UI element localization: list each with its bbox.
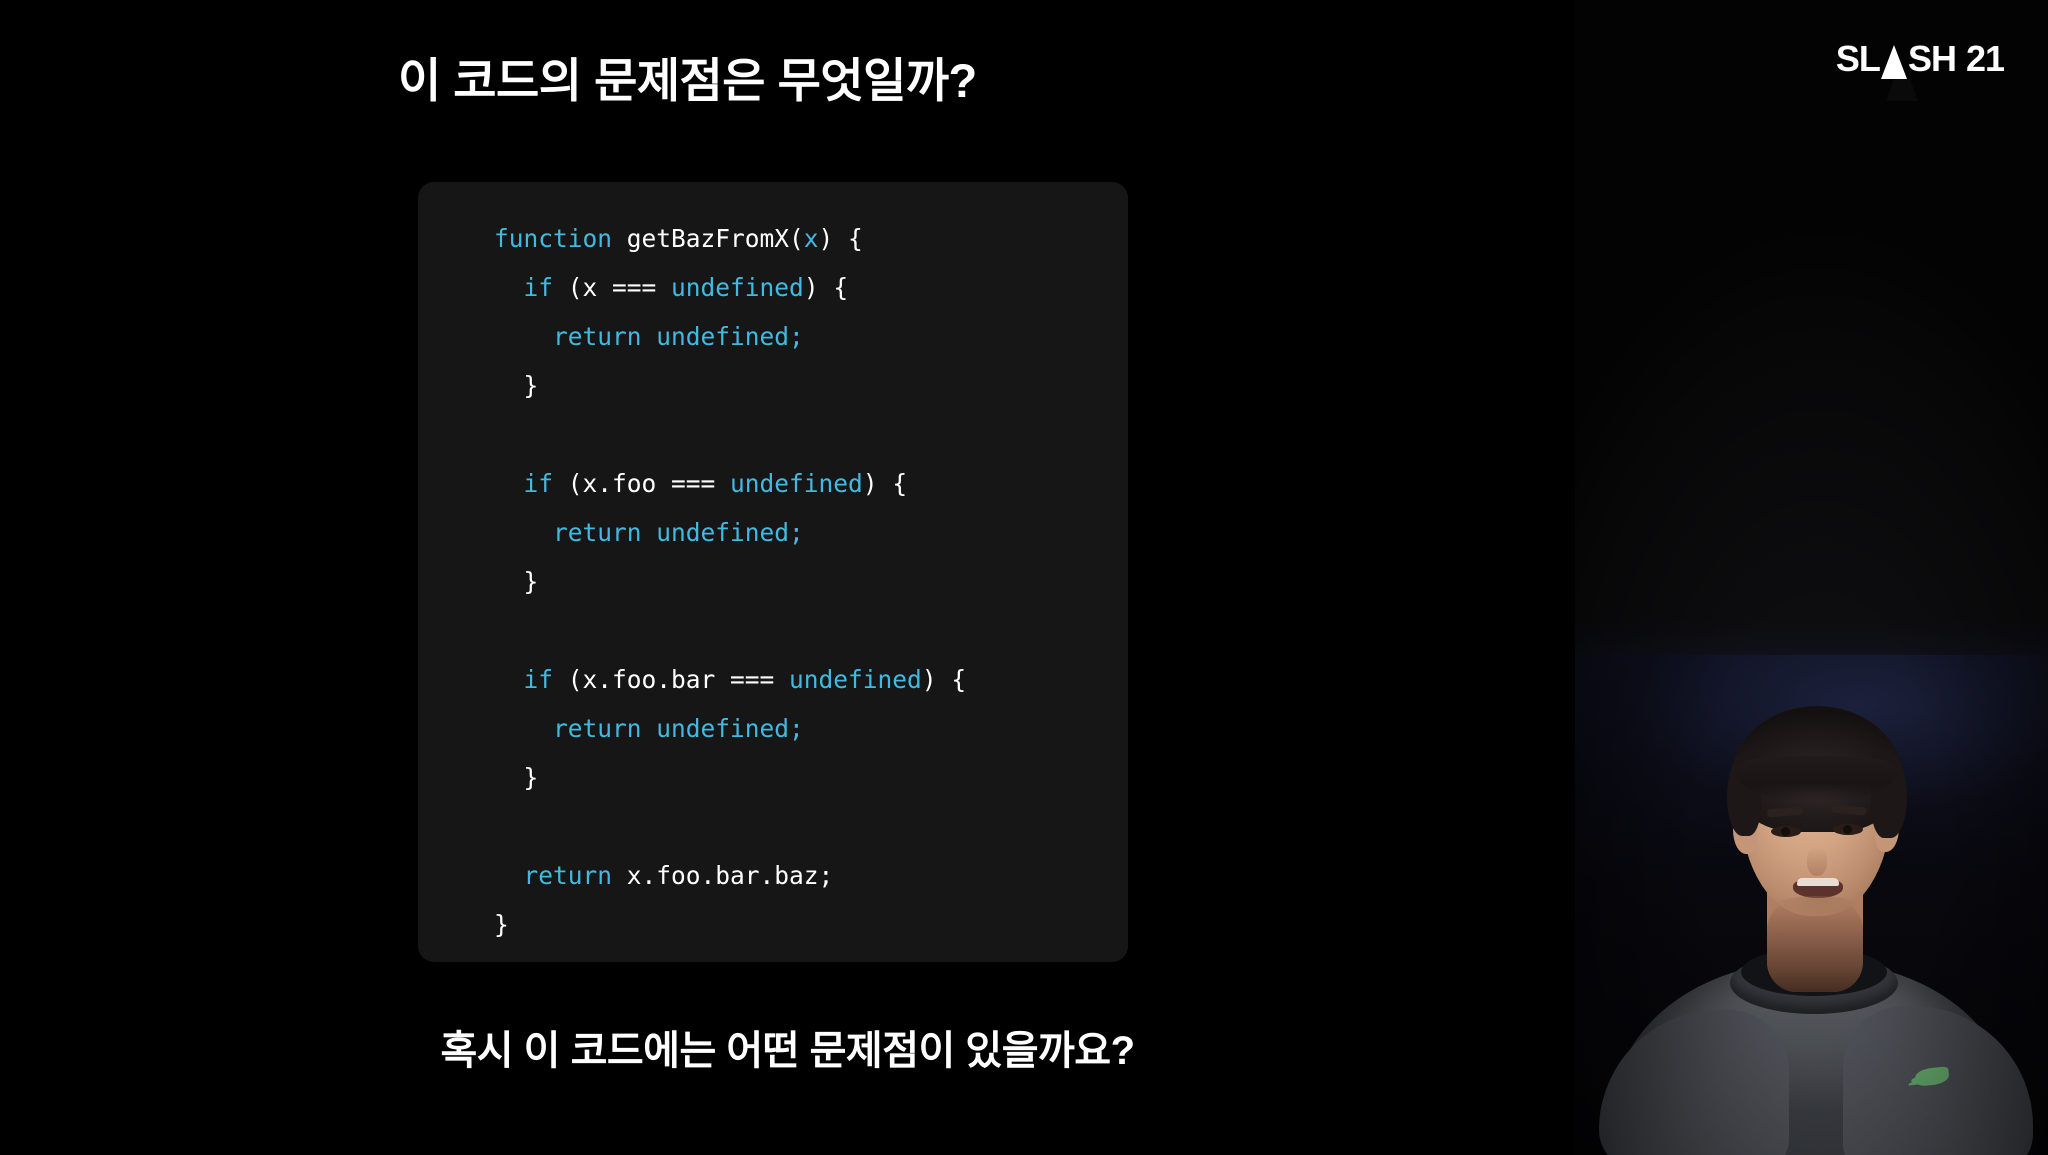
slide-title: 이 코드의 문제점은 무엇일까? xyxy=(398,42,1298,111)
speaker-video-panel xyxy=(1575,0,2048,1155)
logo-text-sl: SL xyxy=(1836,38,1880,80)
logo-text-21: 21 xyxy=(1966,38,2004,80)
code-token: if xyxy=(524,273,554,302)
code-token xyxy=(494,665,524,694)
code-token: ) { xyxy=(804,273,848,302)
presentation-screenshot: 이 코드의 문제점은 무엇일까? function getBazFromX(x)… xyxy=(0,0,2048,1155)
code-token xyxy=(494,273,524,302)
code-token: ) { xyxy=(863,469,907,498)
code-line-blank xyxy=(494,410,966,459)
speaker-pupil-left xyxy=(1781,827,1790,836)
code-token: undefined xyxy=(789,665,922,694)
code-token xyxy=(494,714,553,743)
slide-area: 이 코드의 문제점은 무엇일까? function getBazFromX(x)… xyxy=(0,0,1575,1155)
subtitle-caption: 혹시 이 코드에는 어떤 문제점이 있을까요? xyxy=(0,1018,1575,1076)
code-token: ) { xyxy=(922,665,966,694)
slash-21-logo: SL SH 21 xyxy=(1836,38,2004,80)
code-line: } xyxy=(494,763,538,792)
code-token: (x.foo.bar === xyxy=(553,665,789,694)
code-line: } xyxy=(494,567,538,596)
code-line: if (x.foo === undefined) { xyxy=(494,469,907,498)
speaker-nose xyxy=(1807,846,1827,876)
code-token: if xyxy=(524,469,554,498)
speaker-pupil-right xyxy=(1843,825,1852,834)
code-token: getBazFromX( xyxy=(612,224,804,253)
code-line-blank xyxy=(494,802,966,851)
code-token: } xyxy=(494,763,538,792)
code-token: return xyxy=(524,861,613,890)
code-token: if xyxy=(524,665,554,694)
code-line: } xyxy=(494,371,538,400)
code-line-blank xyxy=(494,606,966,655)
code-token: x xyxy=(804,224,819,253)
code-line: return undefined; xyxy=(494,518,804,547)
code-token: function xyxy=(494,224,612,253)
code-token xyxy=(494,322,553,351)
code-token: x.foo.bar.baz; xyxy=(612,861,833,890)
speaker-figure xyxy=(1575,0,2048,1155)
code-token xyxy=(494,861,524,890)
code-token: return undefined; xyxy=(553,714,804,743)
code-line: return undefined; xyxy=(494,714,804,743)
code-token: undefined xyxy=(671,273,804,302)
speaker-shoulder-left xyxy=(1599,1010,1789,1155)
code-token xyxy=(494,518,553,547)
code-token: return undefined; xyxy=(553,322,804,351)
code-line: return x.foo.bar.baz; xyxy=(494,861,833,890)
code-token: ) { xyxy=(819,224,863,253)
code-token: (x === xyxy=(553,273,671,302)
logo-slash-a-icon xyxy=(1881,45,1907,79)
code-token: return undefined; xyxy=(553,518,804,547)
speaker-chin-shadow xyxy=(1771,896,1863,920)
code-line: if (x === undefined) { xyxy=(494,273,848,302)
code-token: } xyxy=(494,371,538,400)
code-card: function getBazFromX(x) { if (x === unde… xyxy=(418,182,1128,962)
code-token: } xyxy=(494,567,538,596)
code-token: undefined xyxy=(730,469,863,498)
code-token xyxy=(494,469,524,498)
code-snippet: function getBazFromX(x) { if (x === unde… xyxy=(494,214,966,949)
code-line: } xyxy=(494,910,509,939)
code-token: } xyxy=(494,910,509,939)
code-line: function getBazFromX(x) { xyxy=(494,224,863,253)
code-line: return undefined; xyxy=(494,322,804,351)
code-line: if (x.foo.bar === undefined) { xyxy=(494,665,966,694)
code-token: (x.foo === xyxy=(553,469,730,498)
speaker-teeth xyxy=(1797,878,1839,886)
